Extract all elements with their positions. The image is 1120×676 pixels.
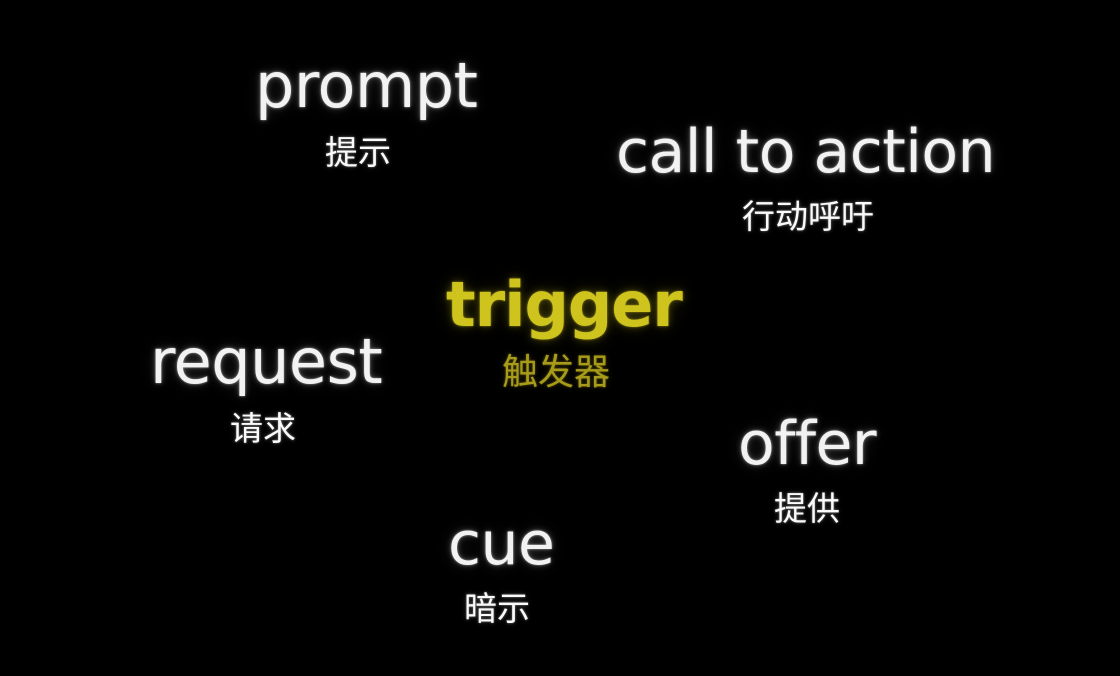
term-chinese-prompt[interactable]: 提示 <box>325 136 477 169</box>
term-chinese-cue[interactable]: 暗示 <box>464 592 554 625</box>
term-chinese-offer[interactable]: 提供 <box>774 492 876 525</box>
term-english-prompt[interactable]: prompt <box>255 55 477 117</box>
word-group-prompt[interactable]: prompt提示 <box>255 55 477 169</box>
word-group-offer[interactable]: offer提供 <box>738 414 876 525</box>
term-english-request[interactable]: request <box>150 331 382 393</box>
term-chinese-trigger[interactable]: 触发器 <box>502 355 682 391</box>
term-english-cue[interactable]: cue <box>448 514 554 574</box>
word-cloud-canvas: prompt提示call to action行动呼吁trigger触发器requ… <box>0 0 1120 676</box>
term-english-call-to-action[interactable]: call to action <box>616 122 995 182</box>
word-group-call-to-action[interactable]: call to action行动呼吁 <box>616 122 995 233</box>
term-chinese-request[interactable]: 请求 <box>230 412 382 445</box>
term-english-offer[interactable]: offer <box>738 414 876 474</box>
word-group-trigger[interactable]: trigger触发器 <box>446 274 682 391</box>
word-group-cue[interactable]: cue暗示 <box>448 514 554 625</box>
term-chinese-call-to-action[interactable]: 行动呼吁 <box>742 200 995 233</box>
word-group-request[interactable]: request请求 <box>150 331 382 445</box>
term-english-trigger[interactable]: trigger <box>446 274 682 336</box>
